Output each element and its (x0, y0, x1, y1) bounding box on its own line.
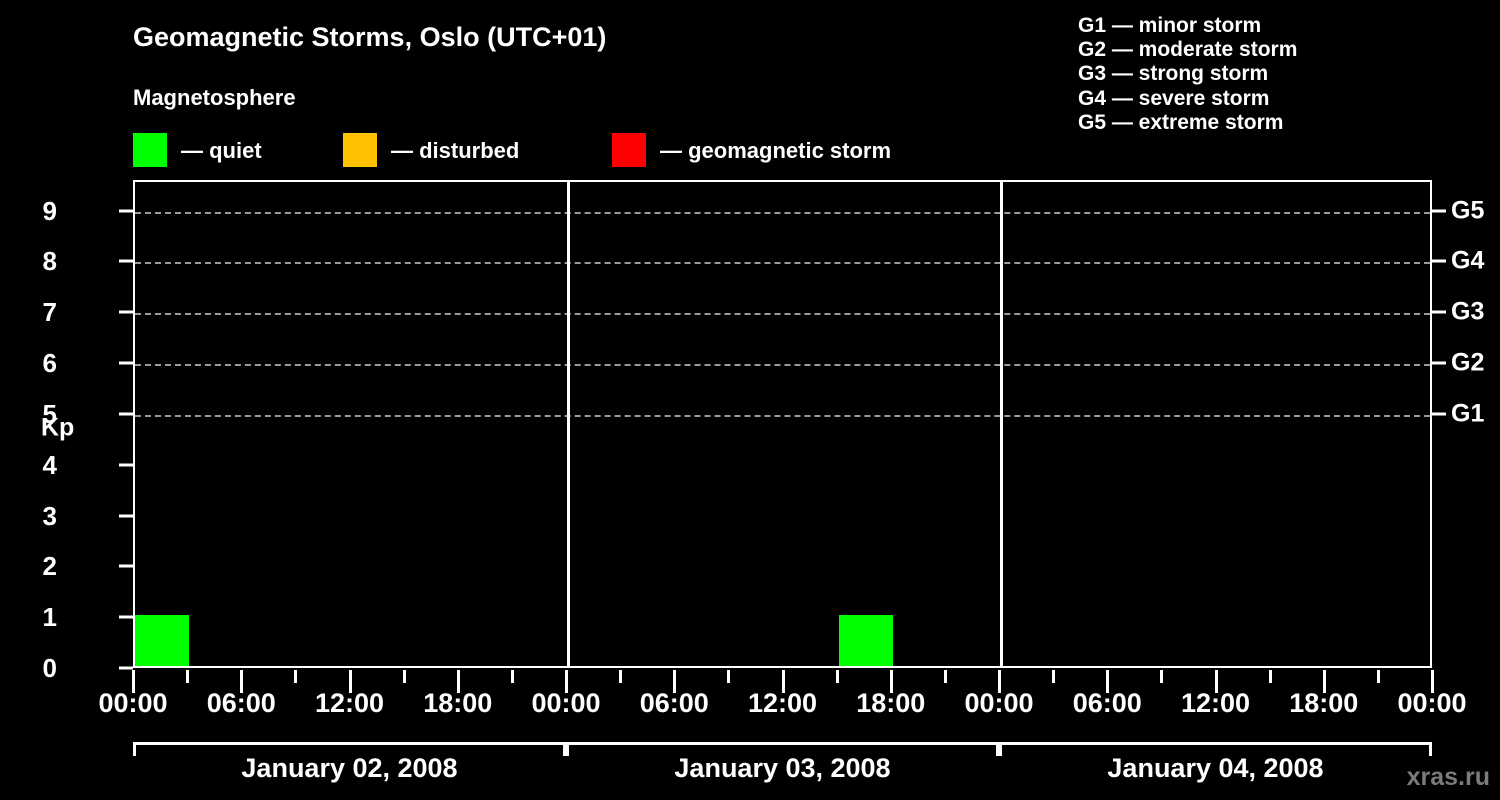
x-tick-label: 00:00 (964, 690, 1033, 717)
y-tick-mark (119, 616, 133, 619)
x-tick-label: 00:00 (531, 690, 600, 717)
day-label: January 02, 2008 (241, 755, 457, 782)
y-tick-label: 8 (17, 248, 57, 274)
x-tick-label: 00:00 (98, 690, 167, 717)
x-tick-label: 06:00 (640, 690, 709, 717)
x-tick-label: 06:00 (1073, 690, 1142, 717)
day-label: January 04, 2008 (1107, 755, 1323, 782)
x-tick-minor (1269, 670, 1272, 683)
y-tick-label: 3 (17, 503, 57, 529)
x-tick-minor (836, 670, 839, 683)
legend-label-quiet: — quiet (181, 140, 262, 162)
x-tick-minor (619, 670, 622, 683)
gridline-kp-8 (135, 262, 1430, 264)
day-separator (567, 182, 570, 666)
y-tick-label: 0 (17, 655, 57, 681)
day-separator (1000, 182, 1003, 666)
gridline-kp-9 (135, 212, 1430, 214)
x-tick-minor (1377, 670, 1380, 683)
x-tick-label: 18:00 (1289, 690, 1358, 717)
legend-heading: Magnetosphere (133, 85, 296, 111)
legend-item-disturbed: — disturbed (343, 132, 519, 168)
plot-area (133, 180, 1432, 668)
legend-swatch-disturbed (343, 133, 377, 167)
chart-page: Geomagnetic Storms, Oslo (UTC+01) Magnet… (0, 0, 1500, 800)
legend-swatch-quiet (133, 133, 167, 167)
g-scale-key: G1 — minor stormG2 — moderate stormG3 — … (1078, 14, 1297, 135)
page-title: Geomagnetic Storms, Oslo (UTC+01) (133, 22, 606, 53)
day-label: January 03, 2008 (674, 755, 890, 782)
x-tick-label: 18:00 (856, 690, 925, 717)
legend-label-geomagnetic-storm: — geomagnetic storm (660, 140, 891, 162)
y-tick-mark (119, 362, 133, 365)
y-axis-title: Kp (41, 414, 74, 443)
legend-label-disturbed: — disturbed (391, 140, 519, 162)
x-tick-minor (1052, 670, 1055, 683)
y-tick-mark (119, 412, 133, 415)
y-tick-mark (119, 463, 133, 466)
g-tick-label-g1: G1 (1451, 401, 1484, 426)
y-tick-label: 2 (17, 553, 57, 579)
g-scale-key-line: G5 — extreme storm (1078, 111, 1297, 135)
x-tick-minor (1160, 670, 1163, 683)
g-tick-mark (1432, 311, 1446, 314)
g-tick-label-g5: G5 (1451, 198, 1484, 223)
g-tick-label-g3: G3 (1451, 300, 1484, 325)
x-tick-minor (294, 670, 297, 683)
y-tick-mark (119, 209, 133, 212)
kp-bar (839, 615, 893, 666)
x-tick-label: 12:00 (748, 690, 817, 717)
g-scale-key-line: G1 — minor storm (1078, 14, 1297, 38)
x-tick-label: 12:00 (315, 690, 384, 717)
g-tick-mark (1432, 412, 1446, 415)
legend-item-geomagnetic-storm: — geomagnetic storm (612, 132, 891, 168)
g-tick-mark (1432, 362, 1446, 365)
legend-swatch-geomagnetic-storm (612, 133, 646, 167)
y-tick-mark (119, 514, 133, 517)
x-tick-minor (727, 670, 730, 683)
g-scale-key-line: G4 — severe storm (1078, 87, 1297, 111)
x-tick-label: 18:00 (423, 690, 492, 717)
g-scale-key-line: G3 — strong storm (1078, 62, 1297, 86)
g-tick-mark (1432, 209, 1446, 212)
y-tick-label: 6 (17, 350, 57, 376)
x-tick-label: 12:00 (1181, 690, 1250, 717)
y-tick-mark (119, 565, 133, 568)
legend-item-quiet: — quiet (133, 132, 262, 168)
x-tick-label: 00:00 (1397, 690, 1466, 717)
y-tick-mark (119, 667, 133, 670)
y-tick-mark (119, 311, 133, 314)
y-tick-label: 4 (17, 452, 57, 478)
g-tick-label-g4: G4 (1451, 249, 1484, 274)
g-scale-key-line: G2 — moderate storm (1078, 38, 1297, 62)
x-tick-minor (511, 670, 514, 683)
gridline-kp-7 (135, 313, 1430, 315)
y-tick-label: 9 (17, 198, 57, 224)
g-tick-label-g2: G2 (1451, 351, 1484, 376)
y-tick-label: 7 (17, 299, 57, 325)
gridline-kp-5 (135, 415, 1430, 417)
kp-bar (135, 615, 189, 666)
y-tick-label: 1 (17, 604, 57, 630)
watermark: xras.ru (1407, 763, 1490, 792)
x-tick-minor (403, 670, 406, 683)
x-tick-label: 06:00 (207, 690, 276, 717)
y-tick-mark (119, 260, 133, 263)
g-tick-mark (1432, 260, 1446, 263)
gridline-kp-6 (135, 364, 1430, 366)
x-tick-minor (186, 670, 189, 683)
x-tick-minor (944, 670, 947, 683)
